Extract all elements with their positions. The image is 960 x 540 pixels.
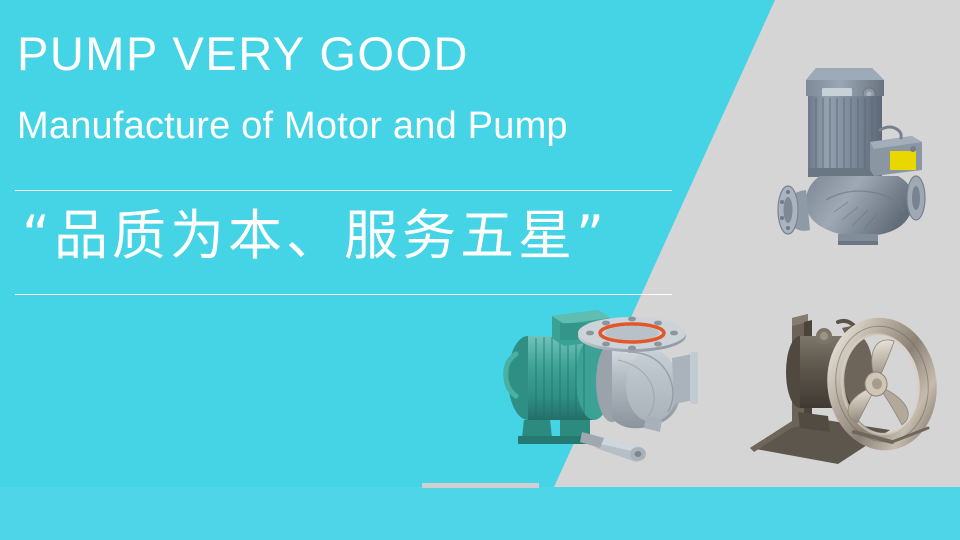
- divider-line-top: [15, 190, 672, 191]
- divider-line-bottom: [15, 294, 672, 295]
- banner-slogan-chinese: “品质为本、服务五星”: [22, 202, 608, 270]
- headline-text-block: PUMP VERY GOOD Manufacture of Motor and …: [0, 0, 720, 330]
- banner-subheadline: Manufacture of Motor and Pump: [17, 104, 568, 150]
- promo-banner: PUMP VERY GOOD Manufacture of Motor and …: [0, 0, 960, 540]
- banner-headline: PUMP VERY GOOD: [17, 26, 469, 82]
- bottom-grey-tab: [422, 483, 539, 488]
- product-image-submersible-mixer: [742, 292, 960, 476]
- product-image-inline-pump: [762, 50, 958, 250]
- bottom-cyan-band: [0, 487, 960, 540]
